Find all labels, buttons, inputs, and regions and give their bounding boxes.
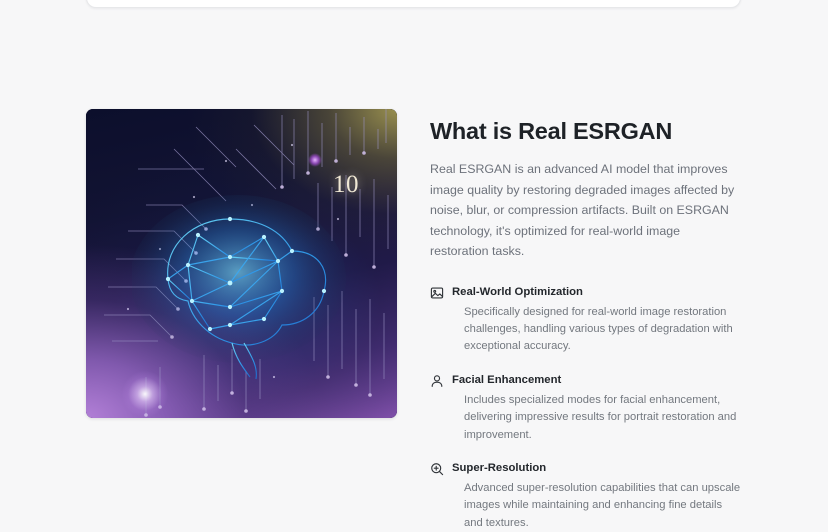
feature-description: Includes specialized modes for facial en… <box>452 392 742 444</box>
page-title: What is Real ESRGAN <box>430 117 742 145</box>
brain-icon <box>132 195 352 385</box>
feature-title: Facial Enhancement <box>452 373 742 387</box>
ai-brain-illustration: 10 <box>86 109 397 418</box>
illustration-number: 10 <box>333 171 359 199</box>
feature-item-real-world-optimization: Real-World Optimization Specifically des… <box>430 285 742 356</box>
image-icon <box>430 286 444 300</box>
user-icon <box>430 374 444 388</box>
feature-description: Advanced super-resolution capabilities t… <box>452 480 742 532</box>
intro-paragraph: Real ESRGAN is an advanced AI model that… <box>430 159 742 261</box>
zoom-in-icon <box>430 462 444 476</box>
purple-node-icon <box>308 153 322 167</box>
about-section: 10 What is Real ESRGAN Real ESRGAN is an… <box>86 109 742 532</box>
feature-item-super-resolution: Super-Resolution Advanced super-resoluti… <box>430 461 742 532</box>
feature-title: Real-World Optimization <box>452 285 742 299</box>
light-glow <box>122 371 168 417</box>
feature-title: Super-Resolution <box>452 461 742 475</box>
top-partial-card <box>86 0 741 8</box>
feature-description: Specifically designed for real-world ima… <box>452 304 742 356</box>
feature-item-facial-enhancement: Facial Enhancement Includes specialized … <box>430 373 742 444</box>
about-content: What is Real ESRGAN Real ESRGAN is an ad… <box>430 109 742 532</box>
